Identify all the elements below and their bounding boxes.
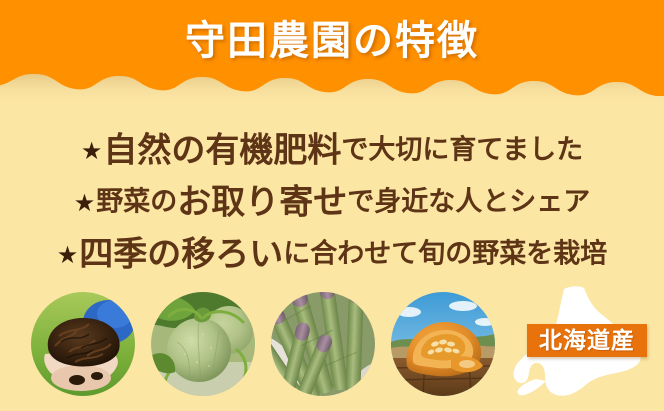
feature-line-2: ★野菜のお取り寄せで身近な人とシェア bbox=[0, 176, 664, 228]
feature-3-rest: に合わせて旬の野菜を栽培 bbox=[283, 239, 607, 270]
star-icon: ★ bbox=[81, 137, 103, 165]
feature-3-emphasis: 四季の移ろい bbox=[79, 235, 283, 275]
feature-2-emphasis: お取り寄せ bbox=[177, 183, 347, 223]
feature-2-rest: で身近な人とシェア bbox=[347, 187, 590, 218]
wave-divider bbox=[0, 72, 664, 104]
feature-2-emphasis-prefix: 野菜の bbox=[96, 187, 177, 218]
banner-header: 守田農園の特徴 bbox=[0, 0, 664, 104]
hokkaido-map: 北海道産 bbox=[500, 285, 664, 411]
feature-banner: 守田農園の特徴 ★自然の有機肥料で大切に育てました bbox=[0, 0, 664, 411]
star-icon: ★ bbox=[74, 189, 96, 217]
photo-asparagus-spears bbox=[271, 292, 375, 396]
feature-1-emphasis: 自然の有機肥料 bbox=[103, 131, 341, 171]
photo-cut-pumpkin-squash bbox=[391, 292, 495, 396]
page-title: 守田農園の特徴 bbox=[0, 17, 664, 65]
star-icon: ★ bbox=[57, 241, 79, 269]
feature-line-1: ★自然の有機肥料で大切に育てました bbox=[0, 124, 664, 176]
photo-green-melon-on-vine bbox=[151, 292, 255, 396]
feature-line-3: ★四季の移ろいに合わせて旬の野菜を栽培 bbox=[0, 228, 664, 280]
photo-compost-soil-in-hands bbox=[31, 292, 135, 396]
feature-list: ★自然の有機肥料で大切に育てました ★野菜のお取り寄せで身近な人とシェア ★四季… bbox=[0, 124, 664, 280]
status-badge: 北海道産 bbox=[527, 324, 647, 357]
hokkaido-badge-label: 北海道産 bbox=[527, 324, 647, 357]
feature-1-rest: で大切に育てました bbox=[341, 135, 583, 166]
